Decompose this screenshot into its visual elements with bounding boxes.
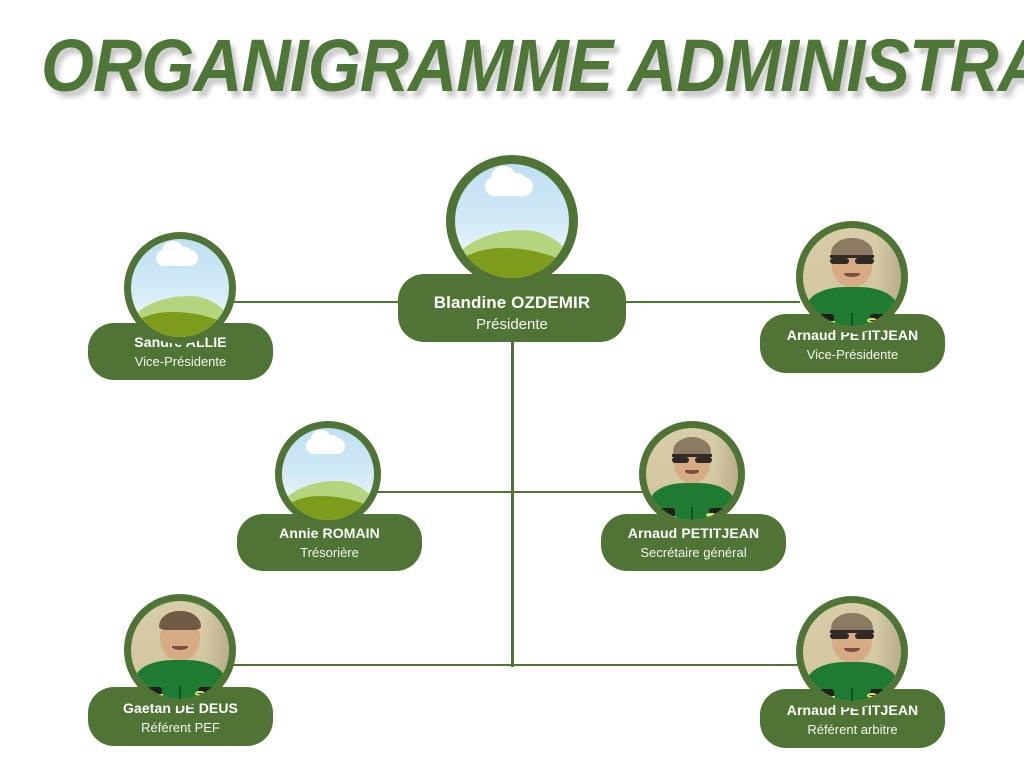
photo-jacket (650, 483, 735, 520)
person-role: Trésorière (237, 543, 422, 562)
landscape-placeholder-avatar (455, 164, 569, 278)
page-title: ORGANIGRAMME ADMINISTRATIF (41, 24, 983, 108)
portrait-photo-avatar (803, 228, 901, 326)
connector-bottom-row (178, 664, 854, 666)
node-vice-president-right[interactable]: Arnaud PETITJEAN Vice-Présidente (760, 221, 945, 373)
photo-shoulder-left (807, 314, 834, 326)
node-treasurer[interactable]: Annie ROMAIN Trésorière (237, 421, 422, 571)
node-president[interactable]: Blandine OZDEMIR Présidente (398, 155, 626, 342)
person-role: Présidente (398, 314, 626, 336)
photo-zipper (851, 688, 854, 701)
node-vice-president-left[interactable]: Sandre ALLIE Vice-Présidente (88, 232, 273, 380)
brand-logo-icon (668, 516, 676, 518)
node-referent-pef[interactable]: Gaetan DE DEUS Référent PEF (88, 594, 273, 746)
glasses-icon (672, 454, 712, 462)
person-role: Référent PEF (88, 718, 273, 737)
photo-zipper (691, 507, 694, 520)
person-role: Vice-Présidente (88, 352, 273, 371)
avatar-secretary (639, 421, 745, 527)
person-role: Secrétaire général (601, 543, 786, 562)
brand-logo-icon (827, 321, 835, 324)
glasses-icon (830, 630, 873, 639)
brand-logo-icon (827, 696, 835, 699)
organigramme-canvas: ORGANIGRAMME ADMINISTRATIF Blandine OZDE… (0, 0, 1024, 768)
photo-shoulder-left (650, 508, 675, 520)
person-role: Référent arbitre (760, 720, 945, 739)
landscape-placeholder-avatar (131, 239, 229, 337)
portrait-photo-avatar (131, 601, 229, 699)
glasses-icon (830, 255, 873, 264)
portrait-photo-avatar (646, 428, 738, 520)
photo-jacket (135, 660, 225, 699)
node-referent-arbitre[interactable]: Arnaud PETITJEAN Référent arbitre (760, 596, 945, 748)
person-role: Vice-Présidente (760, 345, 945, 364)
cloud-icon (306, 438, 345, 454)
person-name: Blandine OZDEMIR (398, 291, 626, 314)
connector-trunk-vertical (511, 340, 514, 667)
avatar-president (446, 155, 578, 287)
landscape-placeholder-avatar (282, 428, 374, 520)
photo-zipper (179, 686, 182, 699)
avatar-vice-president-right (796, 221, 908, 333)
photo-zipper (851, 313, 854, 326)
avatar-referent-arbitre (796, 596, 908, 708)
avatar-treasurer (275, 421, 381, 527)
photo-jacket (807, 662, 897, 701)
portrait-photo-avatar (803, 603, 901, 701)
avatar-vice-president-left (124, 232, 236, 344)
photo-shoulder-left (807, 689, 834, 701)
cloud-icon (156, 250, 197, 267)
node-secretary[interactable]: Arnaud PETITJEAN Secrétaire général (601, 421, 786, 571)
avatar-referent-pef (124, 594, 236, 706)
club-crest-icon (706, 513, 715, 517)
brand-logo-icon (155, 694, 163, 697)
photo-jacket (807, 287, 897, 326)
cloud-icon (485, 177, 533, 196)
photo-shoulder-left (135, 687, 162, 699)
